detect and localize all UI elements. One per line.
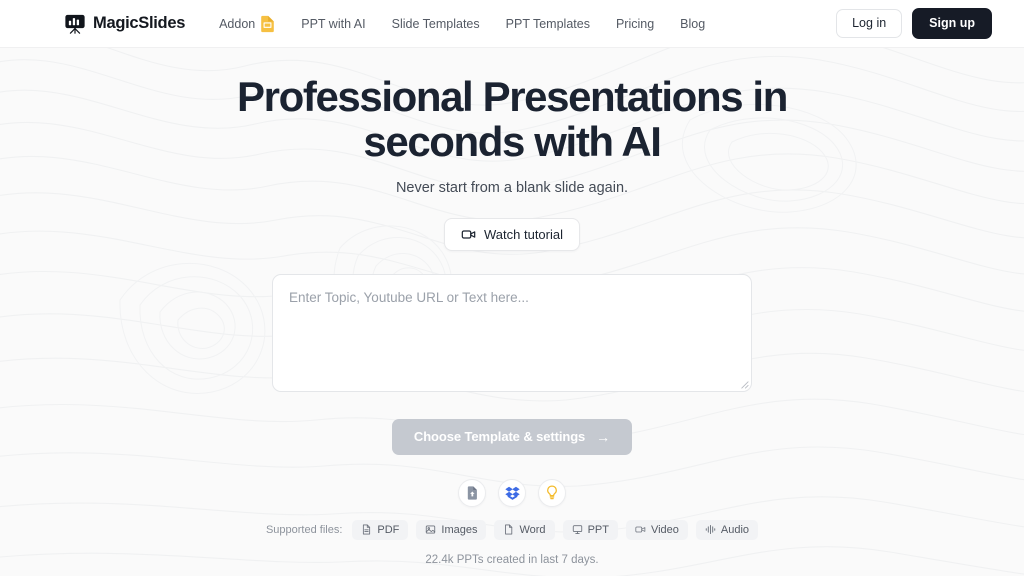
video-camera-icon: [635, 524, 646, 535]
supported-files: Supported files: PDF Images Wor: [266, 520, 758, 540]
image-icon: [425, 524, 436, 535]
file-chip-word[interactable]: Word: [494, 520, 554, 540]
arrow-right-icon: →: [596, 430, 610, 444]
file-chip-label: Video: [651, 524, 679, 536]
file-text-icon: [361, 524, 372, 535]
supported-files-label: Supported files:: [266, 524, 342, 536]
file-chip-audio[interactable]: Audio: [696, 520, 758, 540]
nav-item-label: PPT with AI: [301, 17, 365, 31]
usage-stat: 22.4k PPTs created in last 7 days.: [425, 554, 598, 566]
file-chip-label: Images: [441, 524, 477, 536]
nav-item-ppt-templates[interactable]: PPT Templates: [506, 17, 590, 31]
login-button[interactable]: Log in: [836, 9, 902, 38]
watch-tutorial-label: Watch tutorial: [484, 227, 563, 242]
nav-item-label: PPT Templates: [506, 17, 590, 31]
brand-logo[interactable]: MagicSlides: [64, 13, 185, 35]
nav-item-addon[interactable]: Addon: [219, 15, 275, 33]
video-camera-icon: [461, 227, 476, 242]
file-chip-video[interactable]: Video: [626, 520, 688, 540]
google-slides-icon: [260, 15, 275, 33]
audio-waveform-icon: [705, 524, 716, 535]
lightbulb-button[interactable]: [538, 479, 566, 507]
prompt-area: [272, 274, 752, 392]
dropbox-button[interactable]: [498, 479, 526, 507]
file-chip-label: Audio: [721, 524, 749, 536]
brand-name: MagicSlides: [93, 14, 185, 33]
site-header: MagicSlides Addon PPT with AI Slide Temp…: [0, 0, 1024, 48]
hero-subheadline: Never start from a blank slide again.: [396, 180, 628, 196]
presentation-board-icon: [64, 13, 86, 35]
file-chip-label: Word: [519, 524, 545, 536]
auth-actions: Log in Sign up: [836, 8, 992, 39]
file-upload-button[interactable]: [458, 479, 486, 507]
file-chip-images[interactable]: Images: [416, 520, 486, 540]
file-chip-pdf[interactable]: PDF: [352, 520, 408, 540]
nav-item-label: Addon: [219, 17, 255, 31]
lightbulb-icon: [545, 485, 559, 500]
file-chip-label: PPT: [588, 524, 609, 536]
presentation-screen-icon: [572, 524, 583, 535]
import-sources: [458, 479, 566, 507]
choose-template-button[interactable]: Choose Template & settings →: [392, 419, 632, 455]
choose-template-label: Choose Template & settings: [414, 429, 585, 444]
nav-item-blog[interactable]: Blog: [680, 17, 705, 31]
file-chip-label: PDF: [377, 524, 399, 536]
nav-item-label: Blog: [680, 17, 705, 31]
nav-item-label: Slide Templates: [392, 17, 480, 31]
file-chip-ppt[interactable]: PPT: [563, 520, 618, 540]
nav-item-slide-templates[interactable]: Slide Templates: [392, 17, 480, 31]
file-icon: [503, 524, 514, 535]
nav-item-ppt-with-ai[interactable]: PPT with AI: [301, 17, 365, 31]
hero-section: Professional Presentations in seconds wi…: [0, 48, 1024, 566]
nav-item-label: Pricing: [616, 17, 654, 31]
primary-nav: Addon PPT with AI Slide Templates PPT Te…: [219, 15, 705, 33]
watch-tutorial-button[interactable]: Watch tutorial: [444, 218, 580, 251]
dropbox-icon: [505, 486, 520, 500]
nav-item-pricing[interactable]: Pricing: [616, 17, 654, 31]
page-title: Professional Presentations in seconds wi…: [232, 74, 792, 165]
topic-input[interactable]: [272, 274, 752, 392]
file-upload-icon: [465, 486, 479, 500]
signup-button[interactable]: Sign up: [912, 8, 992, 39]
